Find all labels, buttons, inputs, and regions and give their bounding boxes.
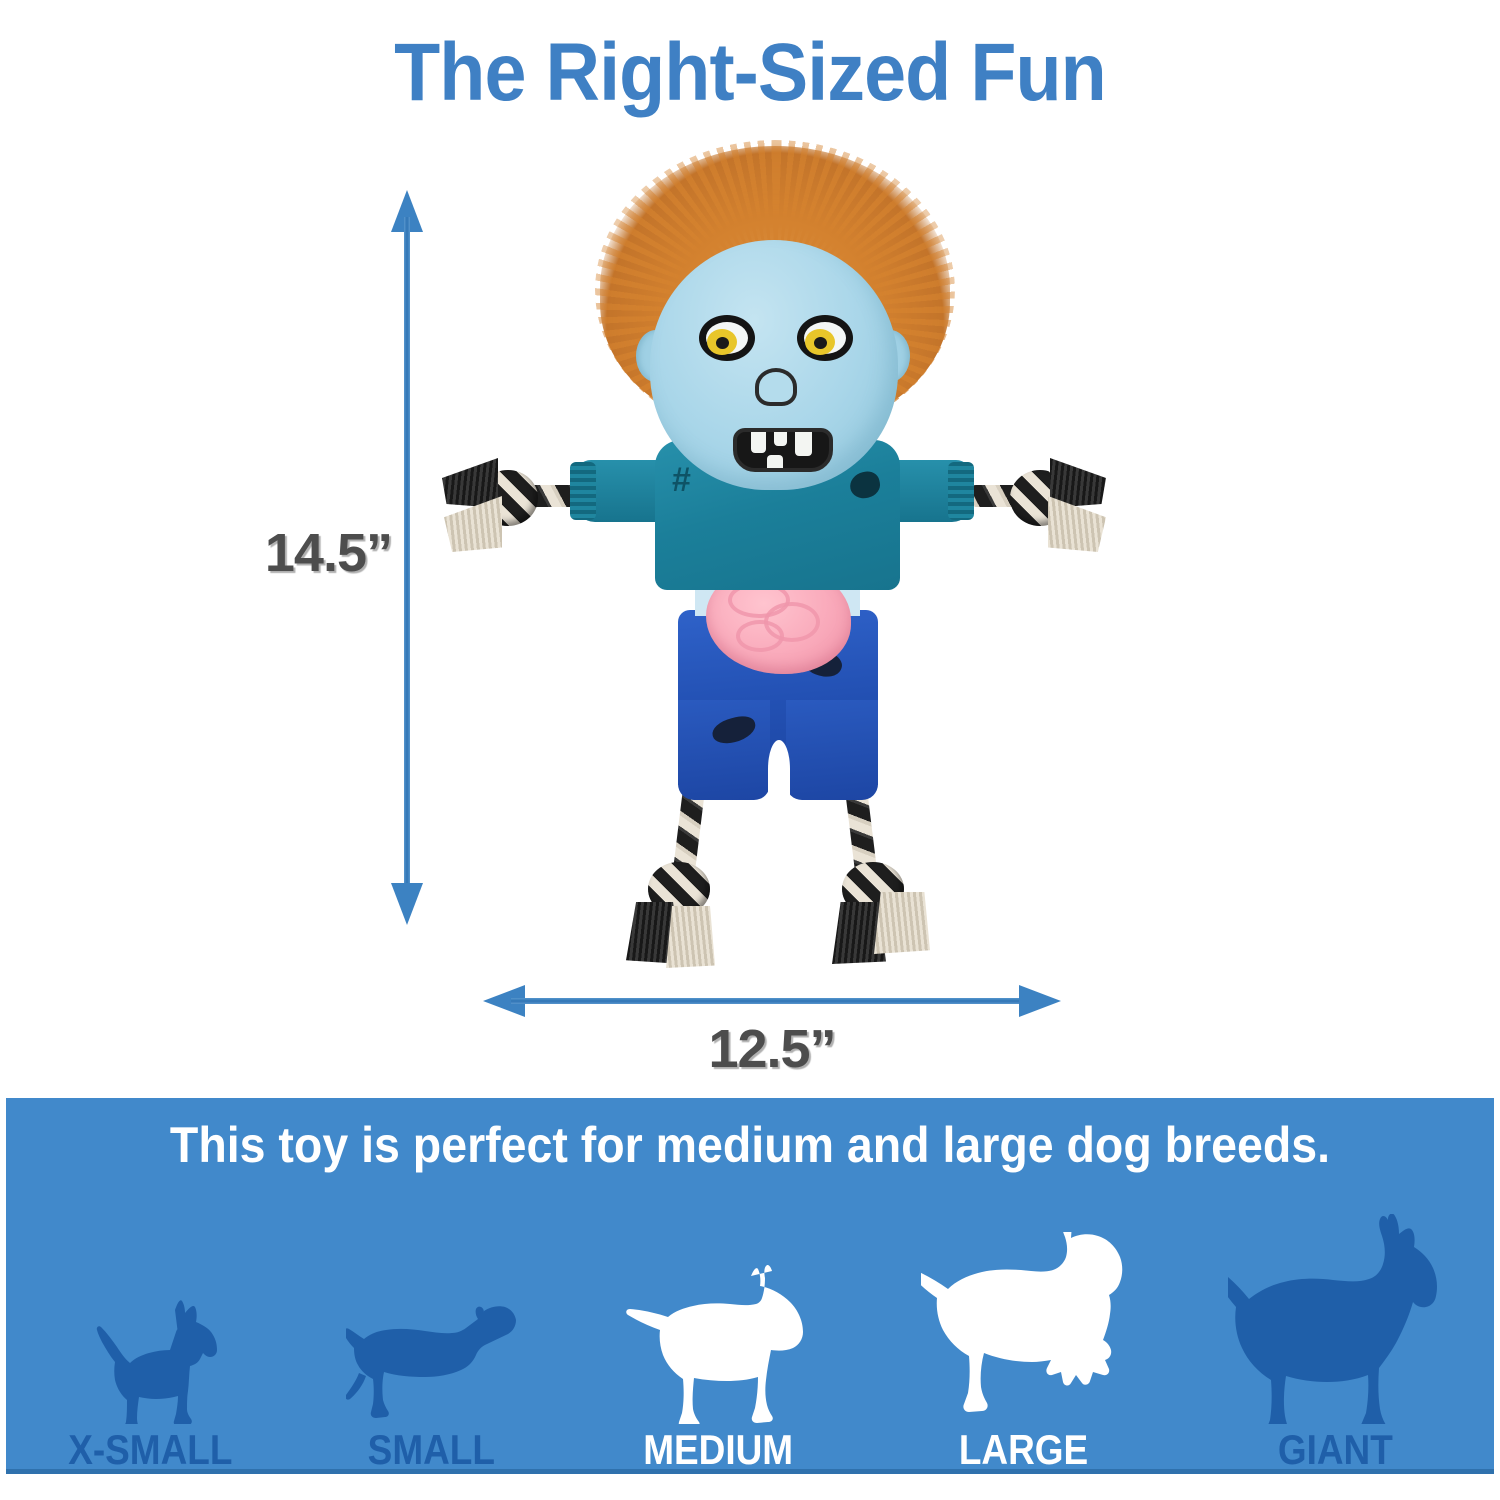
toy-pant-leg-left: [678, 700, 770, 800]
arrow-vertical-shaft: [404, 217, 410, 900]
toy-pant-leg-right: [786, 700, 878, 800]
width-dimension-arrow: [483, 985, 1061, 1017]
size-item-medium[interactable]: MEDIUM: [618, 1188, 818, 1474]
size-item-small[interactable]: SMALL: [346, 1188, 516, 1474]
left-arm-dark-tassel: [442, 458, 498, 508]
width-dimension-label: 12.5”: [483, 1018, 1061, 1080]
page-title: The Right-Sized Fun: [60, 26, 1440, 120]
chihuahua-silhouette-icon: [83, 1296, 218, 1424]
size-label-medium: MEDIUM: [643, 1426, 793, 1474]
arrow-down-head-icon: [391, 883, 423, 925]
bull-terrier-silhouette-icon: [618, 1264, 818, 1424]
toy-left-eye: [699, 315, 755, 361]
toy-left-cuff: [570, 462, 596, 520]
arrow-horizontal-shaft: [511, 998, 1033, 1004]
product-image-area: 14.5”: [0, 140, 1500, 1090]
toy-right-cuff: [948, 462, 974, 520]
toy-nose: [755, 368, 797, 406]
size-label-small: SMALL: [367, 1426, 494, 1474]
toy-right-eye: [797, 315, 853, 361]
height-dimension-label: 14.5”: [232, 522, 392, 584]
tooth-4: [767, 455, 783, 468]
height-dimension-arrow: [391, 190, 423, 925]
size-label-giant: GIANT: [1278, 1426, 1393, 1474]
size-item-x-small[interactable]: X-SMALL: [57, 1188, 244, 1474]
right-leg-light-tassel: [874, 892, 930, 954]
gut-coil-3: [736, 620, 784, 652]
arrow-right-head-icon: [1019, 985, 1061, 1017]
size-item-giant[interactable]: GIANT: [1228, 1188, 1443, 1474]
tooth-2: [774, 432, 787, 446]
breed-size-scale: X-SMALL SMALL MEDIUM LARGE: [6, 1188, 1494, 1474]
tooth-3: [795, 432, 812, 456]
left-leg-light-tassel: [666, 906, 716, 968]
golden-retriever-silhouette-icon: [921, 1232, 1126, 1424]
zombie-plush-toy: #: [450, 140, 1100, 980]
dachshund-silhouette-icon: [346, 1300, 516, 1424]
shirt-stitch-mark-icon: #: [672, 466, 702, 496]
banner-headline: This toy is perfect for medium and large…: [58, 1116, 1442, 1174]
left-eye-pupil: [716, 337, 729, 349]
size-label-large: LARGE: [958, 1426, 1087, 1474]
great-dane-silhouette-icon: [1228, 1214, 1443, 1424]
toy-mouth: [733, 428, 833, 472]
breed-size-banner: This toy is perfect for medium and large…: [6, 1098, 1494, 1474]
size-item-large[interactable]: LARGE: [921, 1188, 1126, 1474]
tooth-1: [751, 432, 766, 453]
toy-pants-gap: [768, 740, 790, 798]
right-eye-pupil: [814, 337, 827, 349]
size-label-x-small: X-SMALL: [68, 1426, 232, 1474]
